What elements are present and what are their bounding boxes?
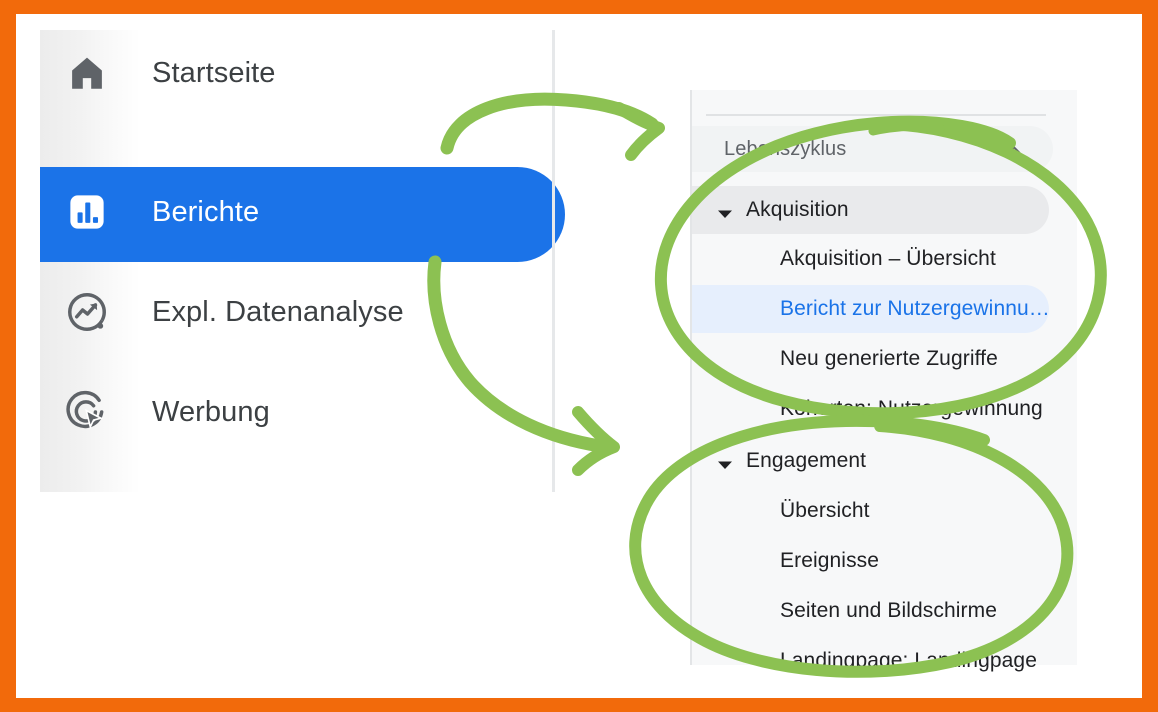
sidebar-item-label: Startseite [152, 57, 276, 90]
sidebar-item-berichte[interactable]: Berichte [16, 169, 536, 255]
nav-item-label: Akquisition – Übersicht [780, 247, 996, 271]
section-header-label: Lebenszyklus [724, 138, 846, 161]
bar-chart-icon [56, 181, 118, 243]
nav-item-kohorten-nutzergewinnung[interactable]: Kohorten: Nutzergewinnung [692, 385, 1049, 433]
reports-navigation-panel: Lebenszyklus Akquisition Akquisition – Ü… [690, 90, 1077, 665]
sidebar-item-expl-datenanalyse[interactable]: Expl. Datenanalyse [16, 269, 536, 355]
nav-item-neu-generierte-zugriffe[interactable]: Neu generierte Zugriffe [692, 335, 1049, 383]
caret-down-icon[interactable] [718, 457, 732, 475]
screenshot-canvas: Startseite Berichte [16, 14, 1142, 698]
nav-item-label: Neu generierte Zugriffe [780, 347, 998, 371]
nav-item-label: Ereignisse [780, 549, 879, 573]
chevron-up-icon[interactable] [1003, 139, 1025, 166]
target-cursor-icon [56, 381, 118, 443]
pane-divider [552, 30, 555, 492]
nav-item-label: Bericht zur Nutzergewinnu… [780, 297, 1050, 321]
nav-group-label: Akquisition [746, 198, 849, 222]
sidebar-item-startseite[interactable]: Startseite [16, 30, 536, 116]
nav-item-landingpage[interactable]: Landingpage: Landingpage [692, 637, 1049, 685]
nav-group-akquisition[interactable]: Akquisition [692, 186, 1049, 234]
home-icon [56, 42, 118, 104]
sidebar-item-label: Berichte [152, 196, 259, 229]
sidebar-item-label: Werbung [152, 396, 270, 429]
nav-item-seiten-und-bildschirme[interactable]: Seiten und Bildschirme [692, 587, 1049, 635]
nav-item-bericht-zur-nutzergewinnung[interactable]: Bericht zur Nutzergewinnu… [692, 285, 1049, 333]
nav-item-akquisition-uebersicht[interactable]: Akquisition – Übersicht [692, 235, 1049, 283]
nav-group-engagement[interactable]: Engagement [692, 437, 1049, 485]
nav-item-label: Seiten und Bildschirme [780, 599, 997, 623]
nav-item-label: Übersicht [780, 499, 870, 523]
nav-item-uebersicht[interactable]: Übersicht [692, 487, 1049, 535]
panel-top-divider [706, 114, 1046, 116]
nav-group-label: Engagement [746, 449, 866, 473]
nav-item-ereignisse[interactable]: Ereignisse [692, 537, 1049, 585]
sidebar-item-label: Expl. Datenanalyse [152, 296, 404, 329]
orange-border-frame: Startseite Berichte [0, 0, 1158, 712]
nav-item-label: Kohorten: Nutzergewinnung [780, 397, 1043, 421]
nav-item-label: Landingpage: Landingpage [780, 649, 1037, 673]
explore-trend-icon [56, 281, 118, 343]
sidebar-item-werbung[interactable]: Werbung [16, 369, 536, 455]
section-header-lebenszyklus[interactable]: Lebenszyklus [692, 126, 1053, 172]
caret-down-icon[interactable] [718, 206, 732, 224]
